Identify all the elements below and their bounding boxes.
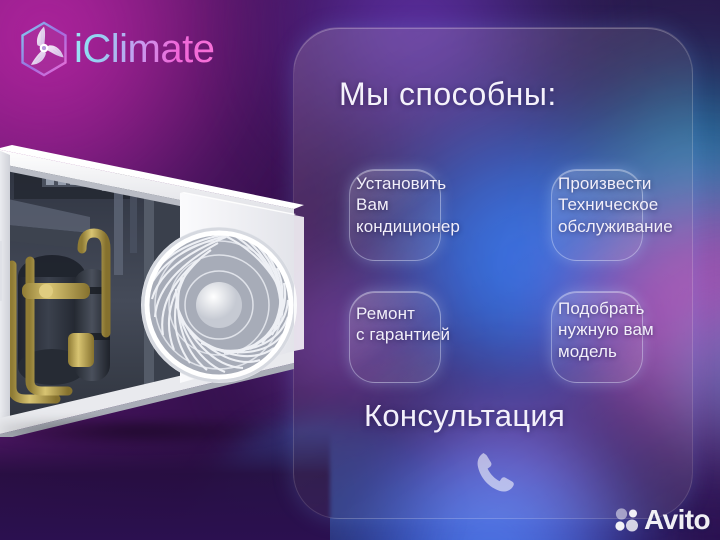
service-label-install: Установить Вам кондиционер bbox=[356, 173, 460, 237]
service-line: Установить bbox=[356, 173, 460, 194]
service-line: Подобрать bbox=[558, 298, 654, 319]
service-line: модель bbox=[558, 341, 654, 362]
hexagon-fan-icon bbox=[16, 20, 72, 78]
service-label-maintenance: Произвести Техническое обслуживание bbox=[558, 173, 673, 237]
air-conditioner-image bbox=[0, 137, 310, 437]
air-conditioner-shadow bbox=[0, 423, 298, 445]
service-line: нужную вам bbox=[558, 319, 654, 340]
brand-name: iClimate bbox=[74, 29, 218, 69]
service-line: Техническое bbox=[558, 194, 673, 215]
service-line: Произвести bbox=[558, 173, 673, 194]
brand-logo[interactable]: iClimate bbox=[16, 20, 218, 78]
service-line: Вам bbox=[356, 194, 460, 215]
service-line: с гарантией bbox=[356, 324, 450, 345]
avito-label: Avito bbox=[644, 506, 710, 534]
service-line: кондиционер bbox=[356, 216, 460, 237]
avito-dots-icon bbox=[614, 507, 640, 533]
air-conditioner-illustration bbox=[0, 137, 310, 437]
service-line: обслуживание bbox=[558, 216, 673, 237]
background-dark-vignette bbox=[0, 430, 330, 540]
service-label-repair: Ремонт с гарантией bbox=[356, 303, 450, 346]
avito-watermark: Avito bbox=[614, 506, 710, 534]
phone-handset-icon[interactable] bbox=[473, 449, 517, 495]
page-title: Мы способны: bbox=[339, 76, 669, 113]
advertisement-banner: iClimate Мы способны: Установить Вам кон… bbox=[0, 0, 720, 540]
consultation-label: Консультация bbox=[364, 398, 684, 434]
service-label-selection: Подобрать нужную вам модель bbox=[558, 298, 654, 362]
service-line: Ремонт bbox=[356, 303, 450, 324]
